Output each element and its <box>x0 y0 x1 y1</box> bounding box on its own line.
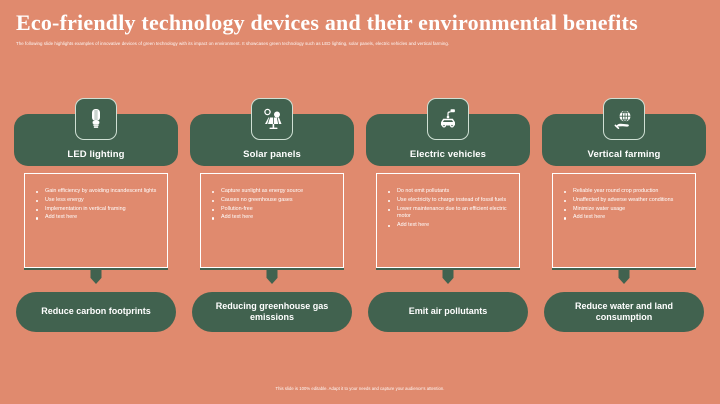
bullet-list: Reliable year round crop production Unaf… <box>563 188 687 222</box>
list-item: Causes no greenhouse gases <box>211 197 335 205</box>
connector-arrow-icon <box>619 268 630 284</box>
column-led-lighting[interactable]: LED lighting Gain efficiency by avoiding… <box>14 78 178 358</box>
electric-car-icon <box>427 98 469 140</box>
connector-arrow-icon <box>443 268 454 284</box>
bullet-box: Gain efficiency by avoiding incandescent… <box>24 173 168 268</box>
list-item: Use electricity to charge instead of fos… <box>387 197 511 205</box>
bullet-list: Do not emit pollutants Use electricity t… <box>387 188 511 230</box>
card-title: LED lighting <box>14 149 178 160</box>
card-title: Electric vehicles <box>366 149 530 160</box>
column-vertical-farming[interactable]: Vertical farming Reliable year round cro… <box>542 78 706 358</box>
list-item: Capture sunlight as energy source <box>211 188 335 196</box>
list-item: Add text here <box>563 214 687 222</box>
card-title: Solar panels <box>190 149 354 160</box>
list-item: Unaffected by adverse weather conditions <box>563 197 687 205</box>
bullet-box: Capture sunlight as energy source Causes… <box>200 173 344 268</box>
bullet-list: Gain efficiency by avoiding incandescent… <box>35 188 159 222</box>
list-item: Gain efficiency by avoiding incandescent… <box>35 188 159 196</box>
list-item: Add text here <box>35 214 159 222</box>
benefit-pill[interactable]: Emit air pollutants <box>368 292 528 332</box>
list-item: Lower maintenance due to an efficient el… <box>387 206 511 221</box>
column-solar-panels[interactable]: Solar panels Capture sunlight as energy … <box>190 78 354 358</box>
list-item: Reliable year round crop production <box>563 188 687 196</box>
benefit-pill[interactable]: Reduce carbon footprints <box>16 292 176 332</box>
column-electric-vehicles[interactable]: Electric vehicles Do not emit pollut <box>366 78 530 358</box>
list-item: Implementation in vertical framing <box>35 206 159 214</box>
list-item: Use less energy <box>35 197 159 205</box>
page-title: Eco-friendly technology devices and thei… <box>16 10 704 36</box>
list-item: Add text here <box>211 214 335 222</box>
list-item: Do not emit pollutants <box>387 188 511 196</box>
bullet-box: Do not emit pollutants Use electricity t… <box>376 173 520 268</box>
benefit-pill[interactable]: Reduce water and land consumption <box>544 292 704 332</box>
solar-panel-icon <box>251 98 293 140</box>
card-title: Vertical farming <box>542 149 706 160</box>
connector-arrow-icon <box>91 268 102 284</box>
benefit-pill[interactable]: Reducing greenhouse gas emissions <box>192 292 352 332</box>
slide-root: Eco-friendly technology devices and thei… <box>0 0 720 404</box>
list-item: Minimize water usage <box>563 206 687 214</box>
connector-arrow-icon <box>267 268 278 284</box>
footer-note: This slide is 100% editable. Adapt it to… <box>0 386 720 391</box>
bullet-box: Reliable year round crop production Unaf… <box>552 173 696 268</box>
cfl-bulb-icon <box>75 98 117 140</box>
hand-plant-globe-icon <box>603 98 645 140</box>
list-item: Pollution-free <box>211 206 335 214</box>
bullet-list: Capture sunlight as energy source Causes… <box>211 188 335 222</box>
columns-container: LED lighting Gain efficiency by avoiding… <box>14 78 706 358</box>
list-item: Add text here <box>387 222 511 230</box>
page-subtitle: The following slide highlights examples … <box>16 40 704 47</box>
